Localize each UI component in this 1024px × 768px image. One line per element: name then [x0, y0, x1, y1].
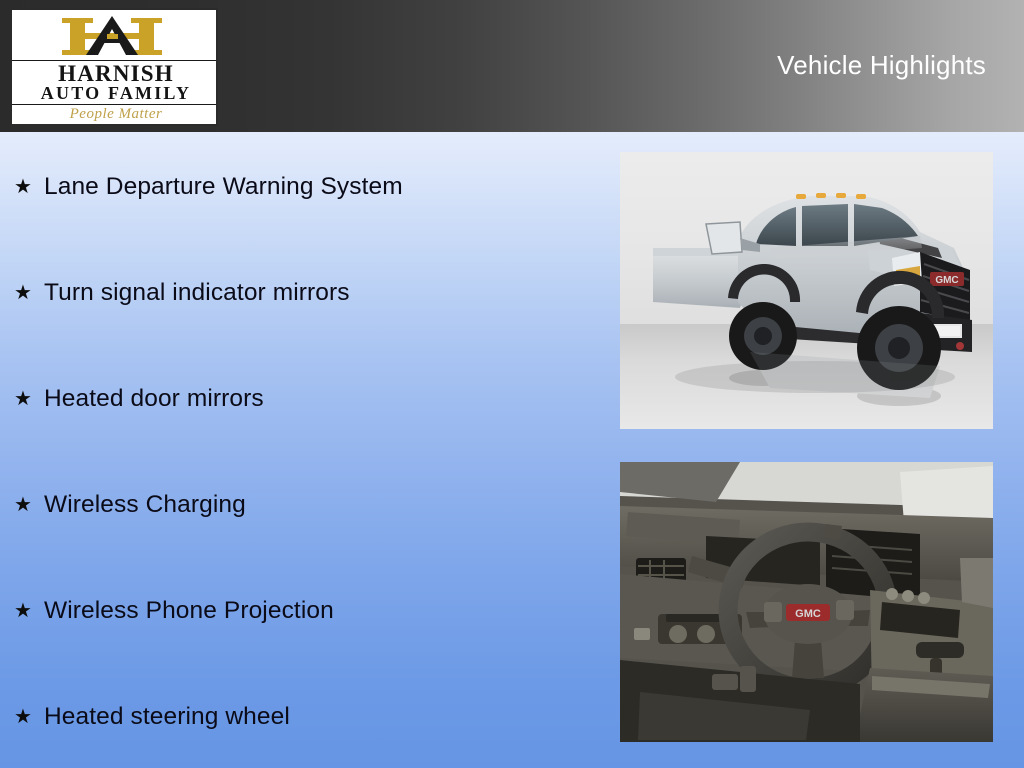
list-item-label: Turn signal indicator mirrors	[44, 279, 350, 307]
star-bullet-icon: ★	[14, 283, 44, 303]
svg-text:GMC: GMC	[935, 275, 958, 286]
logo-name: HARNISH	[12, 60, 218, 85]
star-bullet-icon: ★	[14, 707, 44, 727]
list-item: ★ Turn signal indicator mirrors	[14, 276, 350, 310]
slide: Vehicle Highlights HARNISH AUTO	[0, 0, 1024, 768]
list-item: ★ Lane Departure Warning System	[14, 170, 403, 204]
star-bullet-icon: ★	[14, 495, 44, 515]
vehicle-exterior-photo: GMC	[620, 152, 993, 429]
list-item-label: Heated door mirrors	[44, 385, 264, 413]
page-title: Vehicle Highlights	[777, 50, 986, 81]
list-item: ★ Wireless Charging	[14, 488, 246, 522]
logo-tagline: People Matter	[12, 106, 218, 123]
star-bullet-icon: ★	[14, 177, 44, 197]
star-bullet-icon: ★	[14, 601, 44, 621]
list-item: ★ Heated door mirrors	[14, 382, 264, 416]
logo-subtitle: AUTO FAMILY	[12, 84, 218, 105]
list-item: ★ Heated steering wheel	[14, 700, 290, 734]
harnish-auto-family-logo: HARNISH AUTO FAMILY People Matter	[10, 8, 218, 126]
list-item-label: Wireless Phone Projection	[44, 597, 334, 625]
ha-monogram-icon	[12, 14, 218, 62]
list-item-label: Heated steering wheel	[44, 703, 290, 731]
vehicle-interior-photo: GMC	[620, 462, 993, 742]
truck-illustration: GMC	[620, 152, 993, 429]
star-bullet-icon: ★	[14, 389, 44, 409]
svg-text:GMC: GMC	[795, 608, 821, 620]
list-item: ★ Wireless Phone Projection	[14, 594, 334, 628]
list-item-label: Wireless Charging	[44, 491, 246, 519]
interior-illustration: GMC	[620, 462, 993, 742]
list-item-label: Lane Departure Warning System	[44, 173, 403, 201]
